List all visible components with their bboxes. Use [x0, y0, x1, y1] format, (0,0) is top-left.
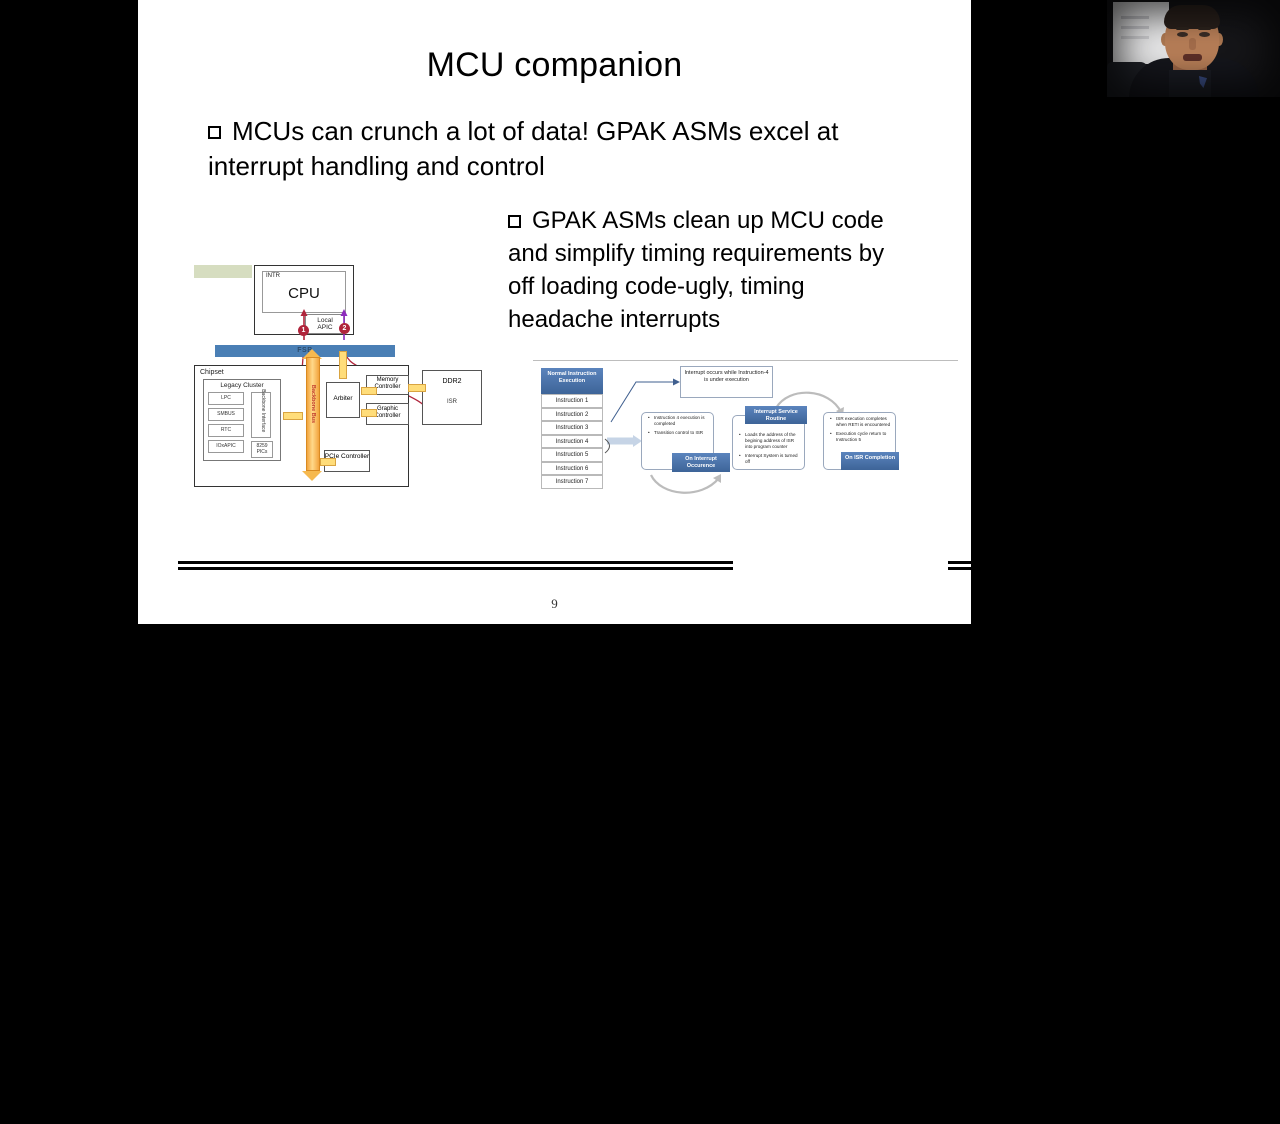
video-frame: MCU companion MCUs can crunch a lot of d…	[0, 0, 1280, 624]
instruction-row: Instruction 4	[541, 435, 603, 449]
legacy-cell-rtc-label: RTC	[208, 427, 244, 433]
bus-link-arrow-arbiter-up	[339, 351, 347, 379]
instruction-row: Instruction 1	[541, 394, 603, 408]
interrupt-flow-diagram: Normal Instruction Execution Instruction…	[533, 360, 958, 540]
logo-plate: SILEGO	[733, 536, 948, 590]
presenter-webcam-overlay[interactable]	[1107, 0, 1280, 97]
marker-badge-1: 1	[298, 325, 309, 336]
on-isr-completion-label: On ISR Completion	[841, 452, 899, 470]
bullet-item-2: GPAK ASMs clean up MCU code and simplify…	[508, 204, 888, 336]
bus-link-arrow-memc	[361, 387, 377, 395]
arrow-head-down-icon	[302, 471, 322, 481]
backbone-interface-label-wrap: Backbone Interface	[251, 392, 271, 438]
bus-link-arrow-pcie	[320, 458, 336, 466]
backbone-interface-label: Backbone Interface	[259, 388, 265, 434]
chipset-label: Chipset	[200, 369, 224, 377]
bus-link-arrow-legacy	[283, 412, 303, 420]
bus-link-arrow-gfxc	[361, 409, 377, 417]
legacy-cluster-label: Legacy Cluster	[203, 382, 281, 389]
bullet-point: Interrupt System is turned off	[741, 453, 802, 465]
ddr2-label: DDR2	[422, 378, 482, 385]
bullet-point: Instruction 4 execution is completed	[650, 415, 711, 427]
isr-band-label: ISR	[423, 399, 481, 405]
intr-label: INTR	[266, 273, 280, 280]
bullet-item-1: MCUs can crunch a lot of data! GPAK ASMs…	[208, 114, 908, 183]
interrupt-service-routine-points: Loads the address of the begining addres…	[736, 432, 802, 468]
on-interrupt-occurence-label: On Interrupt Occurence	[672, 453, 730, 472]
on-isr-completion-points: ISR execution completes when RETI is enc…	[827, 416, 893, 446]
instruction-row: Instruction 5	[541, 448, 603, 462]
presentation-slide: MCU companion MCUs can crunch a lot of d…	[138, 0, 971, 624]
instruction-row: Instruction 2	[541, 408, 603, 422]
diagram-divider-rule	[533, 360, 958, 361]
square-bullet-icon	[508, 215, 521, 228]
square-bullet-icon	[208, 126, 221, 139]
page-title: MCU companion	[138, 46, 971, 85]
instruction-row: Instruction 3	[541, 421, 603, 435]
marker-badge-2: 2	[339, 323, 350, 334]
isr-band	[194, 265, 252, 278]
legacy-cell-ioxapic-label: IOxAPIC	[208, 443, 244, 449]
page-number: 9	[138, 596, 971, 612]
instruction-row: Instruction 6	[541, 462, 603, 476]
interrupt-callout-text: Interrupt occurs while Instruction-4 is …	[683, 370, 770, 385]
bullet-point: ISR execution completes when RETI is enc…	[832, 416, 893, 428]
interrupt-service-routine-label: Interrupt Service Routine	[745, 406, 807, 424]
pics-label: 8259 PICs	[251, 444, 273, 455]
bullet-point: Execution cycle return to Instruction 5	[832, 431, 893, 443]
bullet-point: Loads the address of the begining addres…	[741, 432, 802, 450]
legacy-cell-lpc-label: LPC	[208, 395, 244, 401]
chipset-diagram: INTR CPU LocalAPIC 1 2 FSB Chipset Legac…	[194, 265, 484, 490]
bullet-point: Transition control to ISR	[650, 430, 711, 436]
instruction-row: Instruction 7	[541, 475, 603, 489]
bullet-item-1-text: MCUs can crunch a lot of data! GPAK ASMs…	[208, 116, 838, 181]
legacy-cell-smbus-label: SMBUS	[208, 411, 244, 417]
bus-link-arrow-ddr2	[408, 384, 426, 392]
cpu-label: CPU	[262, 285, 346, 302]
backbone-bus-label: Backbone Bus	[310, 370, 316, 438]
bullet-item-2-text: GPAK ASMs clean up MCU code and simplify…	[508, 207, 884, 333]
arbiter-label: Arbiter	[326, 395, 360, 402]
webcam-vignette	[1107, 0, 1280, 97]
instruction-column-header: Normal Instruction Execution	[541, 368, 603, 394]
on-interrupt-occurence-points: Instruction 4 execution is completed Tra…	[645, 415, 711, 439]
